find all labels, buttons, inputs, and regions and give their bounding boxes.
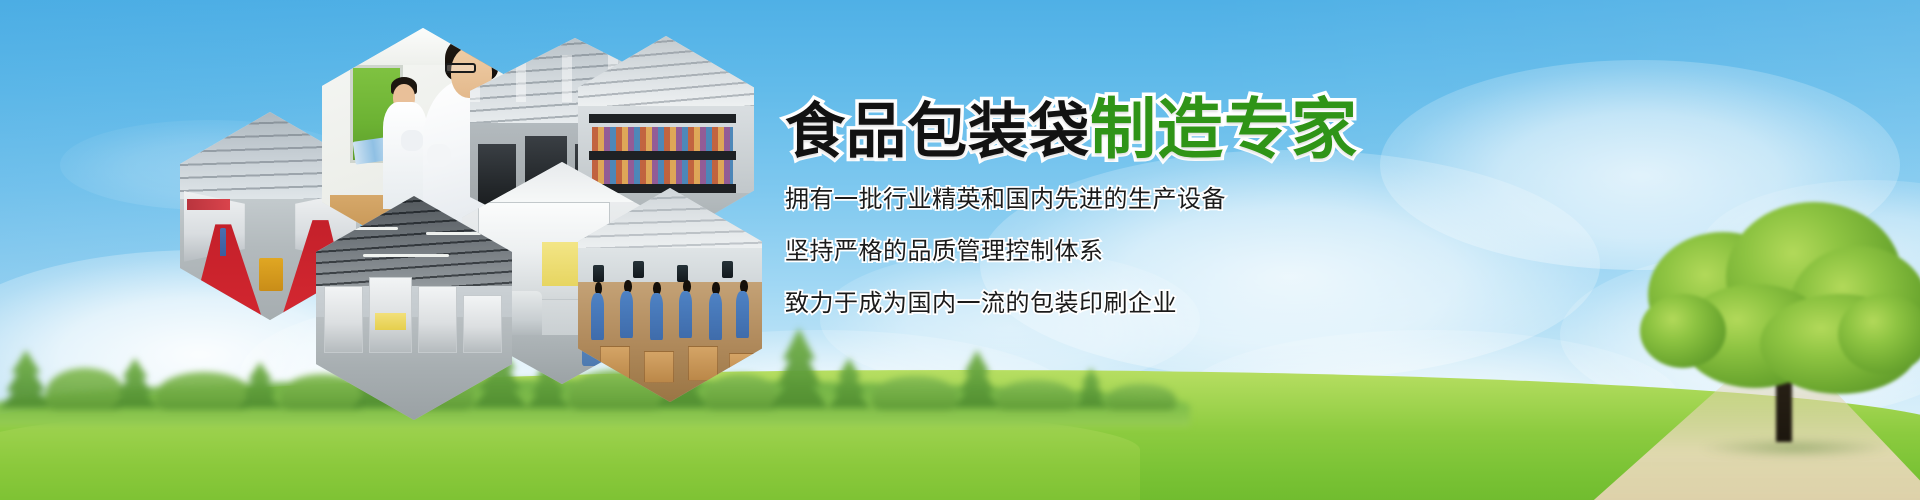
tree-canopy (1640, 294, 1726, 368)
banner-subtitle-line-2: 坚持严格的品质管理控制体系 (785, 240, 1505, 264)
banner-copy: 食品包装袋制造专家 拥有一批行业精英和国内先进的生产设备 坚持严格的品质管理控制… (785, 96, 1505, 316)
banner-headline: 食品包装袋制造专家 (785, 96, 1505, 162)
tree-canopy (1838, 294, 1920, 374)
conifer-tree (1074, 368, 1108, 408)
banner-subtitle-line-1: 拥有一批行业精英和国内先进的生产设备 (785, 188, 1505, 212)
banner-subtitle-list: 拥有一批行业精英和国内先进的生产设备 坚持严格的品质管理控制体系 致力于成为国内… (785, 188, 1505, 316)
bush (1106, 384, 1176, 410)
hero-banner: 食品包装袋制造专家 拥有一批行业精英和国内先进的生产设备 坚持严格的品质管理控制… (0, 0, 1920, 500)
headline-accent: 制造专家 (1090, 92, 1358, 166)
bush (872, 376, 958, 410)
conifer-tree (954, 350, 1000, 408)
headline-primary: 食品包装袋 (785, 98, 1090, 165)
big-tree (1640, 198, 1920, 448)
bush (996, 380, 1076, 410)
banner-subtitle-line-3: 致力于成为国内一流的包装印刷企业 (785, 292, 1505, 316)
hexagon-photo-collage (0, 0, 820, 400)
